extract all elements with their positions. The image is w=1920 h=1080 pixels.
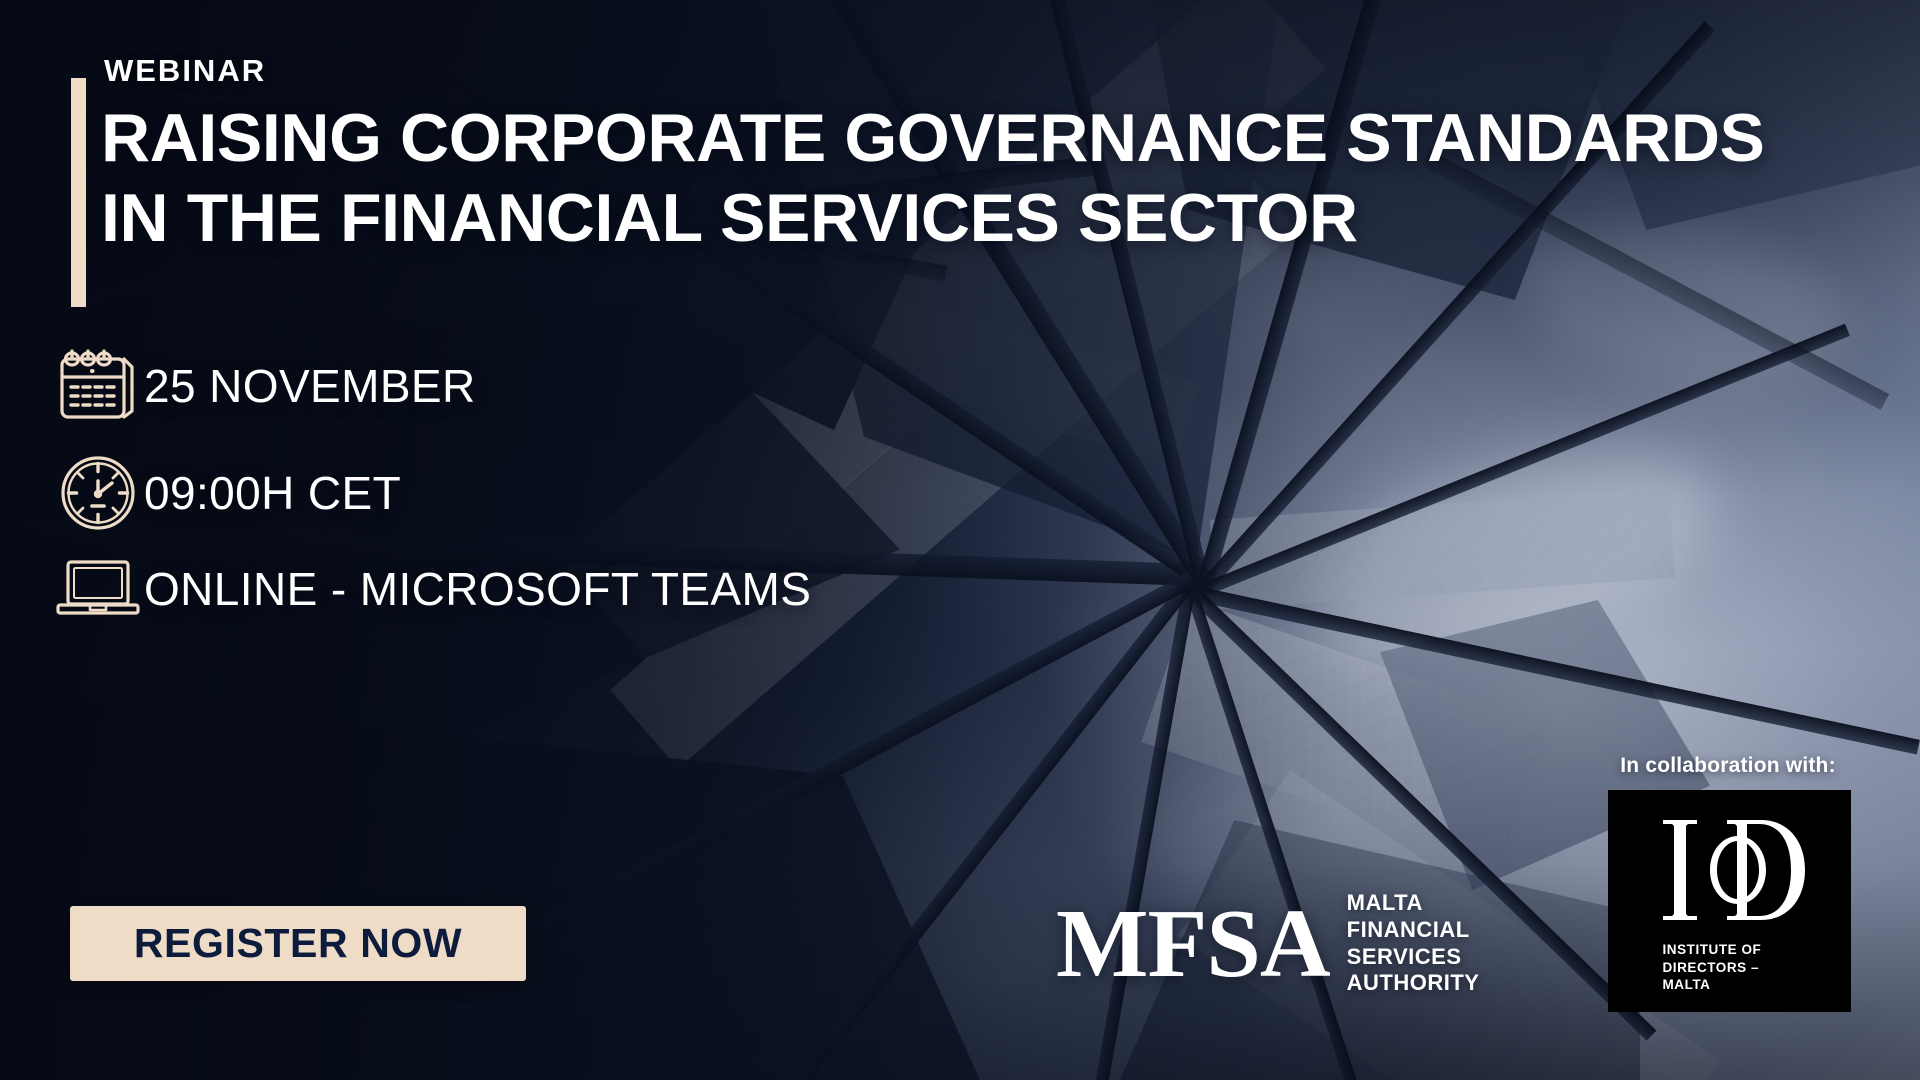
mfsa-logo: MFSA MALTA FINANCIAL SERVICES AUTHORITY [1056, 890, 1479, 997]
iod-caption-line-2: DIRECTORS – MALTA [1663, 959, 1797, 994]
laptop-icon [52, 556, 144, 622]
calendar-icon [52, 345, 144, 427]
collaboration-block: In collaboration with: INSTITUTE OF DIRE… [1608, 754, 1848, 1012]
register-now-button[interactable]: REGISTER NOW [70, 906, 526, 981]
page-title: RAISING CORPORATE GOVERNANCE STANDARDS I… [101, 98, 1891, 258]
mfsa-name-line-1: MALTA [1347, 890, 1480, 917]
iod-caption-line-1: INSTITUTE OF [1663, 941, 1797, 959]
mfsa-name-line-4: AUTHORITY [1347, 970, 1480, 997]
webinar-promo-banner: WEBINAR RAISING CORPORATE GOVERNANCE STA… [0, 0, 1920, 1080]
iod-logo: INSTITUTE OF DIRECTORS – MALTA [1608, 790, 1851, 1012]
iod-monogram-icon [1655, 814, 1805, 931]
headline-line-2: IN THE FINANCIAL SERVICES SECTOR [101, 178, 1891, 258]
headline-line-1: RAISING CORPORATE GOVERNANCE STANDARDS [101, 100, 1764, 176]
collaboration-label: In collaboration with: [1608, 754, 1848, 778]
detail-label-platform: ONLINE - MICROSOFT TEAMS [144, 562, 811, 616]
detail-row-date: 25 NOVEMBER [52, 345, 476, 427]
mfsa-name-line-3: SERVICES [1347, 944, 1480, 971]
detail-row-platform: ONLINE - MICROSOFT TEAMS [52, 556, 811, 622]
detail-row-time: 09:00H CET [52, 452, 401, 534]
clock-icon [52, 452, 144, 534]
mfsa-name-line-2: FINANCIAL [1347, 917, 1480, 944]
mfsa-wordmark: MFSA [1056, 899, 1330, 989]
mfsa-full-name: MALTA FINANCIAL SERVICES AUTHORITY [1347, 890, 1480, 997]
banner-content: WEBINAR RAISING CORPORATE GOVERNANCE STA… [0, 0, 1920, 1080]
accent-bar [71, 78, 86, 307]
detail-label-date: 25 NOVEMBER [144, 359, 476, 413]
detail-label-time: 09:00H CET [144, 466, 401, 520]
kicker-label: WEBINAR [104, 53, 266, 89]
iod-caption: INSTITUTE OF DIRECTORS – MALTA [1663, 941, 1797, 994]
